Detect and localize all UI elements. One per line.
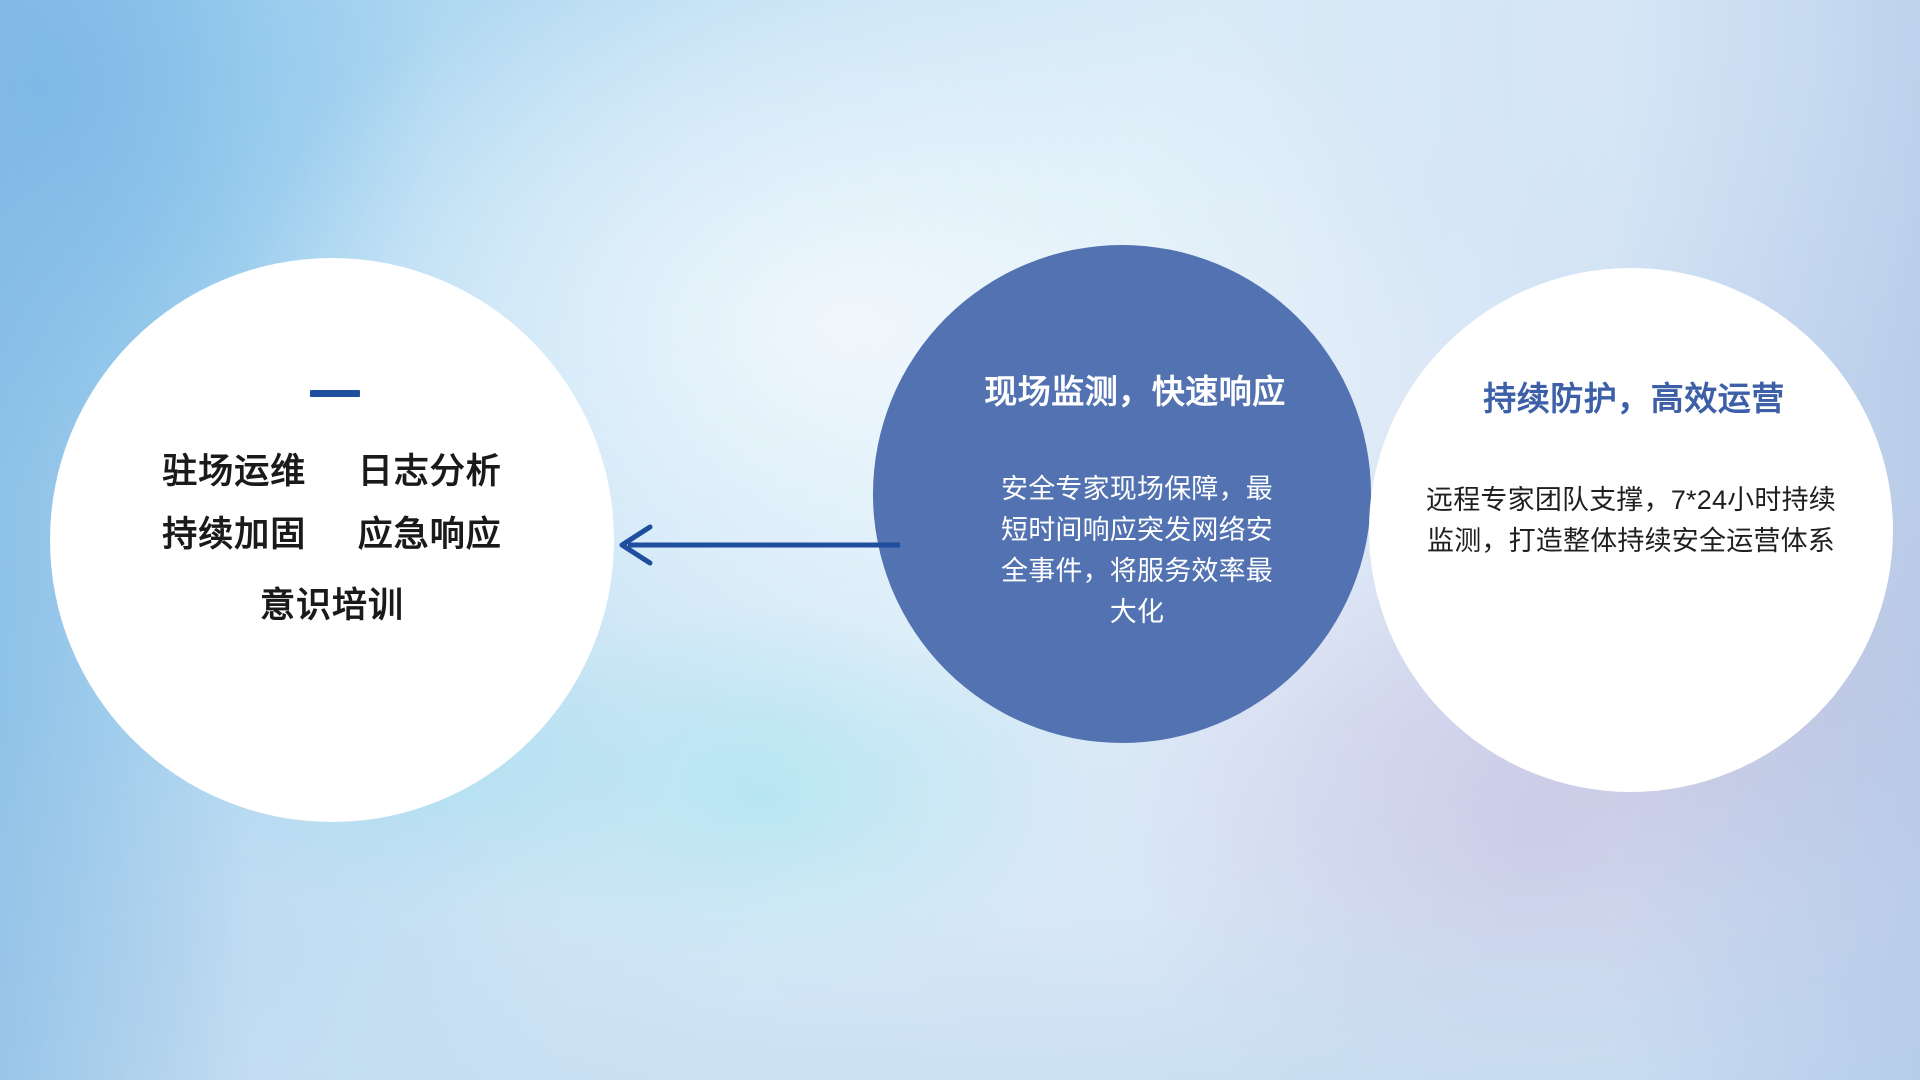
left-keyword-row: 驻场运维 日志分析 — [162, 454, 502, 491]
left-keyword-1: 驻场运维 — [162, 452, 306, 491]
middle-circle-body: 安全专家现场保障，最短时间响应突发网络安全事件，将服务效率最大化 — [989, 469, 1285, 633]
middle-circle-title: 现场监测，快速响应 — [984, 365, 1286, 413]
right-circle-content: 持续防护，高效运营 远程专家团队支撑，7*24小时持续监测，打造整体持续安全运营… — [1369, 268, 1893, 792]
right-circle-title: 持续防护，高效运营 — [1483, 372, 1785, 420]
middle-circle-content: 现场监测，快速响应 安全专家现场保障，最短时间响应突发网络安全事件，将服务效率最… — [873, 245, 1371, 743]
left-keyword-2: 日志分析 — [358, 452, 502, 491]
accent-dash-icon — [310, 390, 360, 397]
left-keyword-4: 应急响应 — [358, 515, 502, 554]
left-keyword-list: 驻场运维 日志分析 持续加固 应急响应 意识培训 — [162, 454, 502, 624]
left-arrow-icon — [610, 520, 900, 570]
right-circle-body: 远程专家团队支撑，7*24小时持续监测，打造整体持续安全运营体系 — [1421, 480, 1841, 562]
left-keyword-5: 意识培训 — [260, 588, 404, 625]
left-keyword-3: 持续加固 — [162, 515, 306, 554]
left-circle-content: 驻场运维 日志分析 持续加固 应急响应 意识培训 — [50, 258, 614, 822]
slide-canvas: 驻场运维 日志分析 持续加固 应急响应 意识培训 现场监测，快速响应 安全专家现… — [0, 0, 1920, 1080]
left-keyword-row: 持续加固 应急响应 — [162, 517, 502, 554]
